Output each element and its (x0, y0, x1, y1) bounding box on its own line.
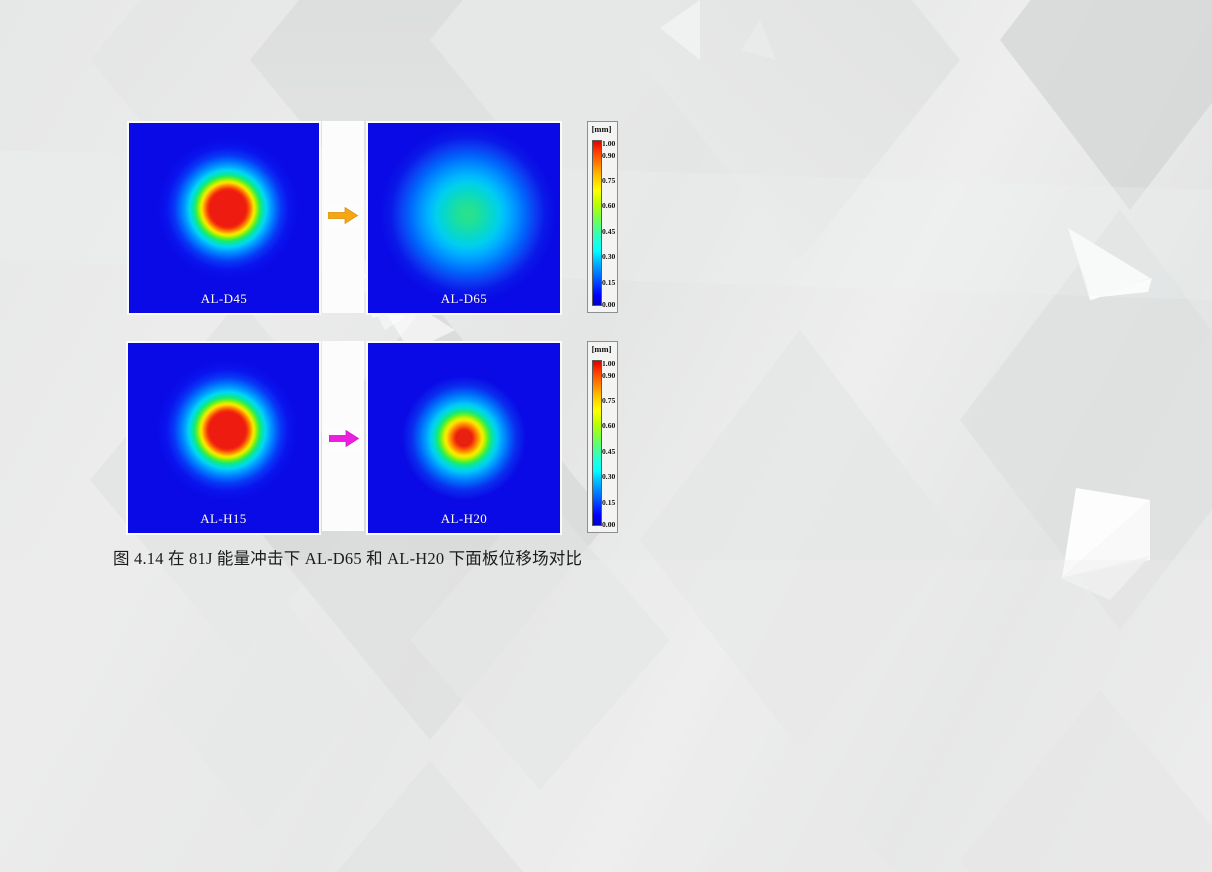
contour-panel-al-h15[interactable]: AL-H15 (126, 341, 321, 535)
colorbar-tick: 0.60 (602, 422, 614, 430)
transition-arrow-bottom-box (325, 426, 363, 451)
figure-4-14: AL-D45 AL-D65 AL-H15 AL-H20 (0, 0, 1212, 872)
colorbar-tick: 1.00 (602, 360, 614, 368)
colorbar-tick: 1.00 (602, 140, 614, 148)
displacement-field-al-h20 (368, 343, 560, 533)
contour-panel-al-d45[interactable]: AL-D45 (127, 121, 321, 315)
colorbar-bottom[interactable]: [mm] 1.00 0.90 0.75 0.60 0.45 0.30 0.15 … (587, 341, 618, 533)
displacement-field-al-d45 (129, 123, 319, 313)
colorbar-unit-label-top: [mm] (588, 124, 615, 134)
colorbar-tick: 0.90 (602, 372, 614, 380)
colorbar-ticks-bottom: 1.00 0.90 0.75 0.60 0.45 0.30 0.15 0.00 (602, 360, 615, 526)
displacement-field-al-d65 (368, 123, 560, 313)
slide-canvas: AL-D45 AL-D65 AL-H15 AL-H20 (0, 0, 1212, 872)
colorbar-tick: 0.45 (602, 448, 614, 456)
panel-label-al-d45: AL-D45 (129, 291, 319, 307)
colorbar-tick: 0.75 (602, 397, 614, 405)
colorbar-tick: 0.30 (602, 253, 614, 261)
colorbar-gradient-bottom (592, 360, 602, 526)
colorbar-gradient-wrap-top (589, 140, 602, 306)
colorbar-gradient-wrap-bottom (589, 360, 602, 526)
colorbar-ticks-top: 1.00 0.90 0.75 0.60 0.45 0.30 0.15 0.00 (602, 140, 615, 306)
orange-arrow-icon (328, 207, 358, 224)
magenta-arrow-icon (329, 430, 359, 447)
colorbar-tick: 0.60 (602, 202, 614, 210)
figure-caption: 图 4.14 在 81J 能量冲击下 AL-D65 和 AL-H20 下面板位移… (113, 545, 582, 569)
colorbar-unit-label-bottom: [mm] (588, 344, 615, 354)
colorbar-tick: 0.00 (602, 521, 614, 529)
colorbar-tick: 0.90 (602, 152, 614, 160)
panel-label-al-d65: AL-D65 (368, 291, 560, 307)
colorbar-tick: 0.45 (602, 228, 614, 236)
colorbar-tick: 0.15 (602, 279, 614, 287)
colorbar-tick: 0.75 (602, 177, 614, 185)
colorbar-tick: 0.15 (602, 499, 614, 507)
transition-arrow-top-box (324, 203, 362, 228)
colorbar-tick: 0.30 (602, 473, 614, 481)
colorbar-gradient-top (592, 140, 602, 306)
panel-label-al-h15: AL-H15 (128, 511, 319, 527)
colorbar-top[interactable]: [mm] 1.00 0.90 0.75 0.60 0.45 0.30 0.15 … (587, 121, 618, 313)
panel-label-al-h20: AL-H20 (368, 511, 560, 527)
colorbar-tick: 0.00 (602, 301, 614, 309)
contour-panel-al-h20[interactable]: AL-H20 (366, 341, 562, 535)
contour-panel-al-d65[interactable]: AL-D65 (366, 121, 562, 315)
displacement-field-al-h15 (128, 343, 319, 533)
